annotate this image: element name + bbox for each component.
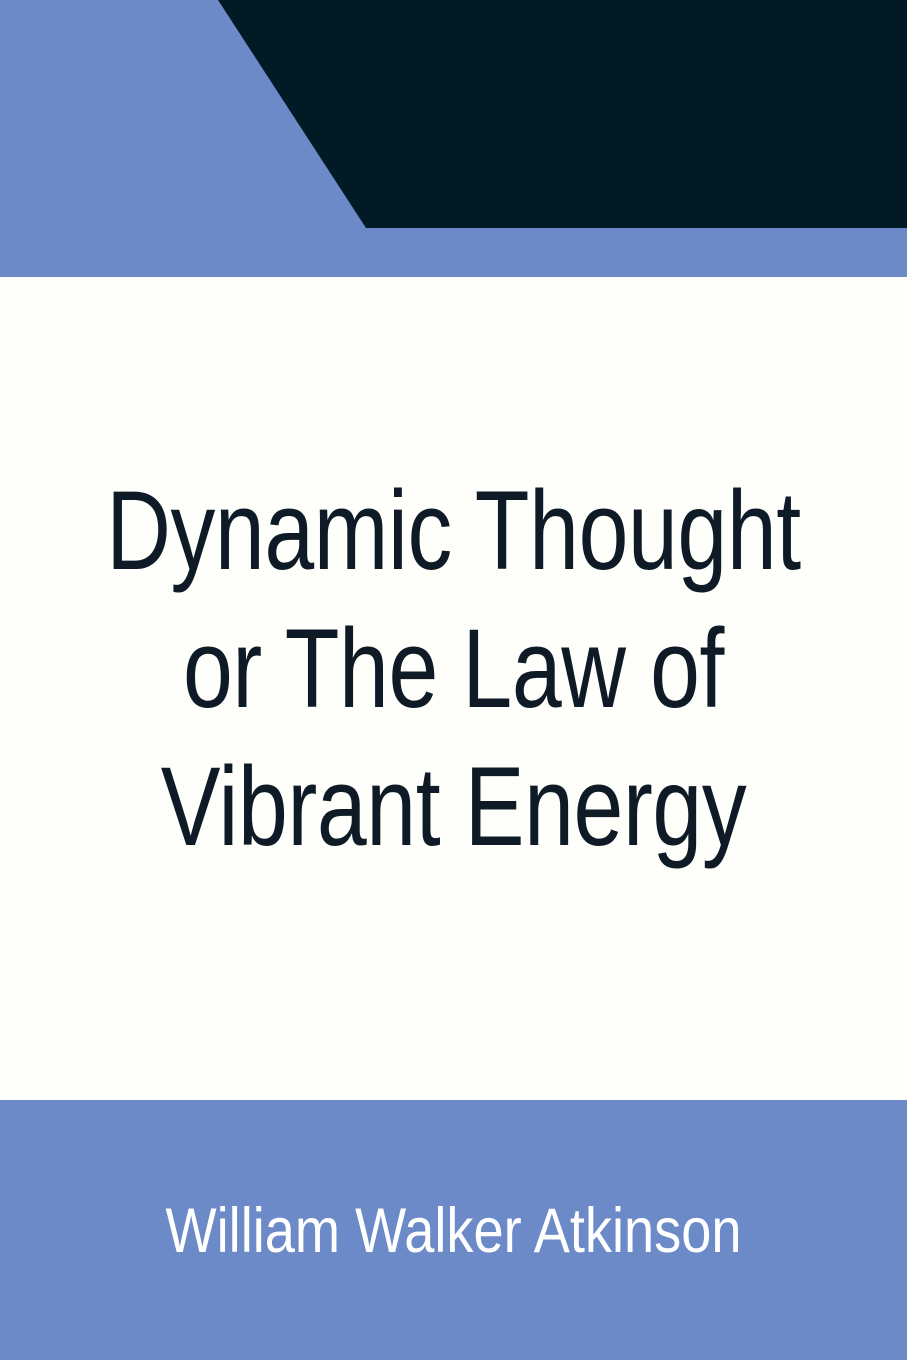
- title-line-1: Dynamic Thought: [91, 462, 817, 600]
- title-line-3: Vibrant Energy: [91, 738, 817, 876]
- title-area: Dynamic Thought or The Law of Vibrant En…: [0, 277, 907, 1100]
- bottom-blue-band: William Walker Atkinson: [0, 1100, 907, 1360]
- book-title: Dynamic Thought or The Law of Vibrant En…: [0, 462, 907, 876]
- book-cover: Dynamic Thought or The Law of Vibrant En…: [0, 0, 907, 1360]
- top-dark-wedge: [0, 0, 907, 228]
- title-line-2: or The Law of: [91, 600, 817, 738]
- top-blue-band: [0, 0, 907, 277]
- author-name: William Walker Atkinson: [63, 1196, 843, 1266]
